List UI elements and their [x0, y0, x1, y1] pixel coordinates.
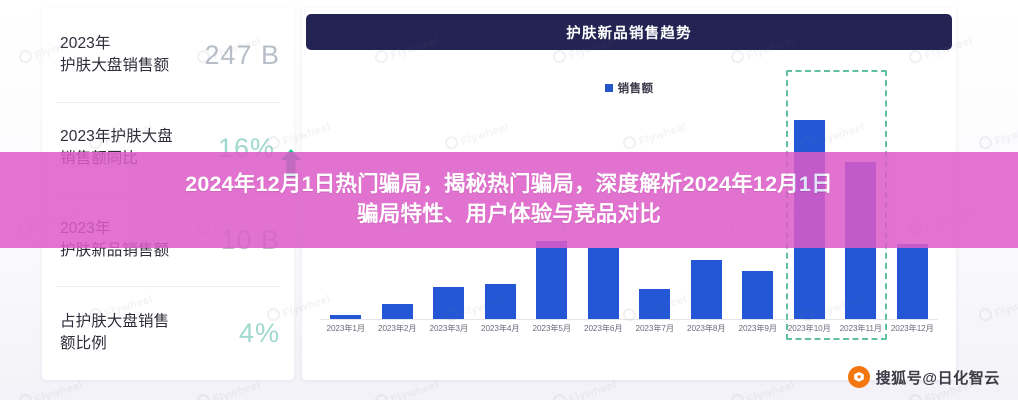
watermark-tile: Flywheel — [977, 118, 1018, 153]
chart-bar[interactable] — [433, 287, 464, 319]
chart-bar[interactable] — [742, 271, 773, 319]
kpi-stat-number: 247 B — [204, 40, 280, 71]
legend-swatch-sales — [605, 84, 613, 92]
chart-x-axis: 2023年1月2023年2月2023年3月2023年4月2023年5月2023年… — [320, 322, 938, 340]
x-axis-tick-label: 2023年5月 — [526, 322, 578, 340]
kpi-stat-row: 2023年 护肤大盘销售额247 B — [42, 8, 294, 102]
chart-bar[interactable] — [897, 244, 928, 319]
headline-line-1: 2024年12月1日热门骗局，揭秘热门骗局，深度解析2024年12月1日 — [185, 170, 833, 200]
x-axis-tick-label: 2023年4月 — [475, 322, 527, 340]
kpi-stat-value: 4% — [239, 318, 280, 349]
chart-bar[interactable] — [382, 304, 413, 319]
watermark-tile: Flywheel — [977, 290, 1018, 325]
kpi-stat-value: 247 B — [204, 40, 280, 71]
x-axis-tick-label: 2023年7月 — [629, 322, 681, 340]
x-axis-tick-label: 2023年12月 — [887, 322, 939, 340]
x-axis-tick-label: 2023年11月 — [835, 322, 887, 340]
screenshot-root: FlywheelFlywheelFlywheelFlywheelFlywheel… — [0, 0, 1018, 400]
chart-bar[interactable] — [485, 284, 516, 319]
x-axis-tick-label: 2023年10月 — [784, 322, 836, 340]
x-axis-tick-label: 2023年3月 — [423, 322, 475, 340]
kpi-stat-label: 2023年 护肤大盘销售额 — [60, 33, 169, 77]
chart-bar[interactable] — [536, 241, 567, 319]
headline-banner: 2024年12月1日热门骗局，揭秘热门骗局，深度解析2024年12月1日 骗局特… — [0, 152, 1018, 248]
source-watermark-text: 搜狐号@日化智云 — [876, 367, 1000, 388]
x-axis-tick-label: 2023年1月 — [320, 322, 372, 340]
chart-legend: 销售额 — [302, 80, 956, 96]
x-axis-tick-label: 2023年2月 — [372, 322, 424, 340]
chart-title-bar: 护肤新品销售趋势 — [306, 14, 952, 50]
chart-bar[interactable] — [588, 248, 619, 319]
chart-bar[interactable] — [691, 260, 722, 319]
chart-title: 护肤新品销售趋势 — [566, 22, 692, 43]
sohu-logo-icon — [848, 366, 870, 388]
chart-bar[interactable] — [639, 289, 670, 319]
kpi-stat-number: 4% — [239, 318, 280, 349]
kpi-stat-row: 占护肤大盘销售 额比例4% — [42, 286, 294, 380]
x-axis-tick-label: 2023年6月 — [578, 322, 630, 340]
chart-baseline — [320, 319, 938, 320]
legend-label-sales: 销售额 — [618, 80, 654, 96]
kpi-stat-label: 占护肤大盘销售 额比例 — [60, 311, 169, 355]
source-watermark: 搜狐号@日化智云 — [848, 366, 1000, 388]
x-axis-tick-label: 2023年9月 — [732, 322, 784, 340]
x-axis-tick-label: 2023年8月 — [681, 322, 733, 340]
headline-line-2: 骗局特性、用户体验与竞品对比 — [357, 200, 661, 230]
